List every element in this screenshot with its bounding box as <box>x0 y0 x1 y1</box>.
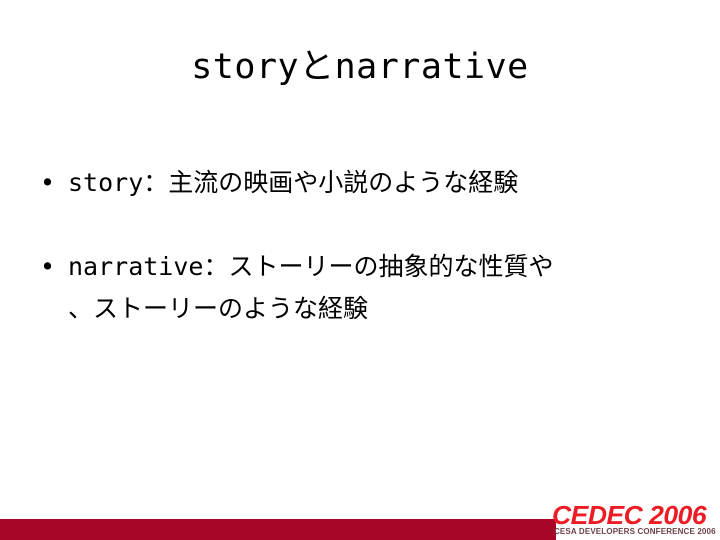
bullet-marker-icon: • <box>40 162 64 204</box>
slide-canvas: storyとnarrative • story：主流の映画や小説のような経験 •… <box>0 0 720 540</box>
cedec-logo-subtitle: CESA DEVELOPERS CONFERENCE 2006 <box>554 527 716 537</box>
footer-accent-bar <box>0 519 556 540</box>
cedec-logo: CEDEC 2006 CESA DEVELOPERS CONFERENCE 20… <box>552 502 720 540</box>
cedec-logo-title: CEDEC 2006 <box>552 502 706 528</box>
list-item-label: narrative：ストーリーの抽象的な性質や 、ストーリーのような経験 <box>68 246 692 330</box>
bullet-list: • story：主流の映画や小説のような経験 • narrative：ストーリー… <box>36 162 692 330</box>
page-title: storyとnarrative <box>0 44 720 90</box>
list-item-label: story：主流の映画や小説のような経験 <box>68 162 692 204</box>
list-item: • narrative：ストーリーの抽象的な性質や 、ストーリーのような経験 <box>36 246 692 330</box>
list-item: • story：主流の映画や小説のような経験 <box>36 162 692 204</box>
bullet-marker-icon: • <box>40 246 64 288</box>
